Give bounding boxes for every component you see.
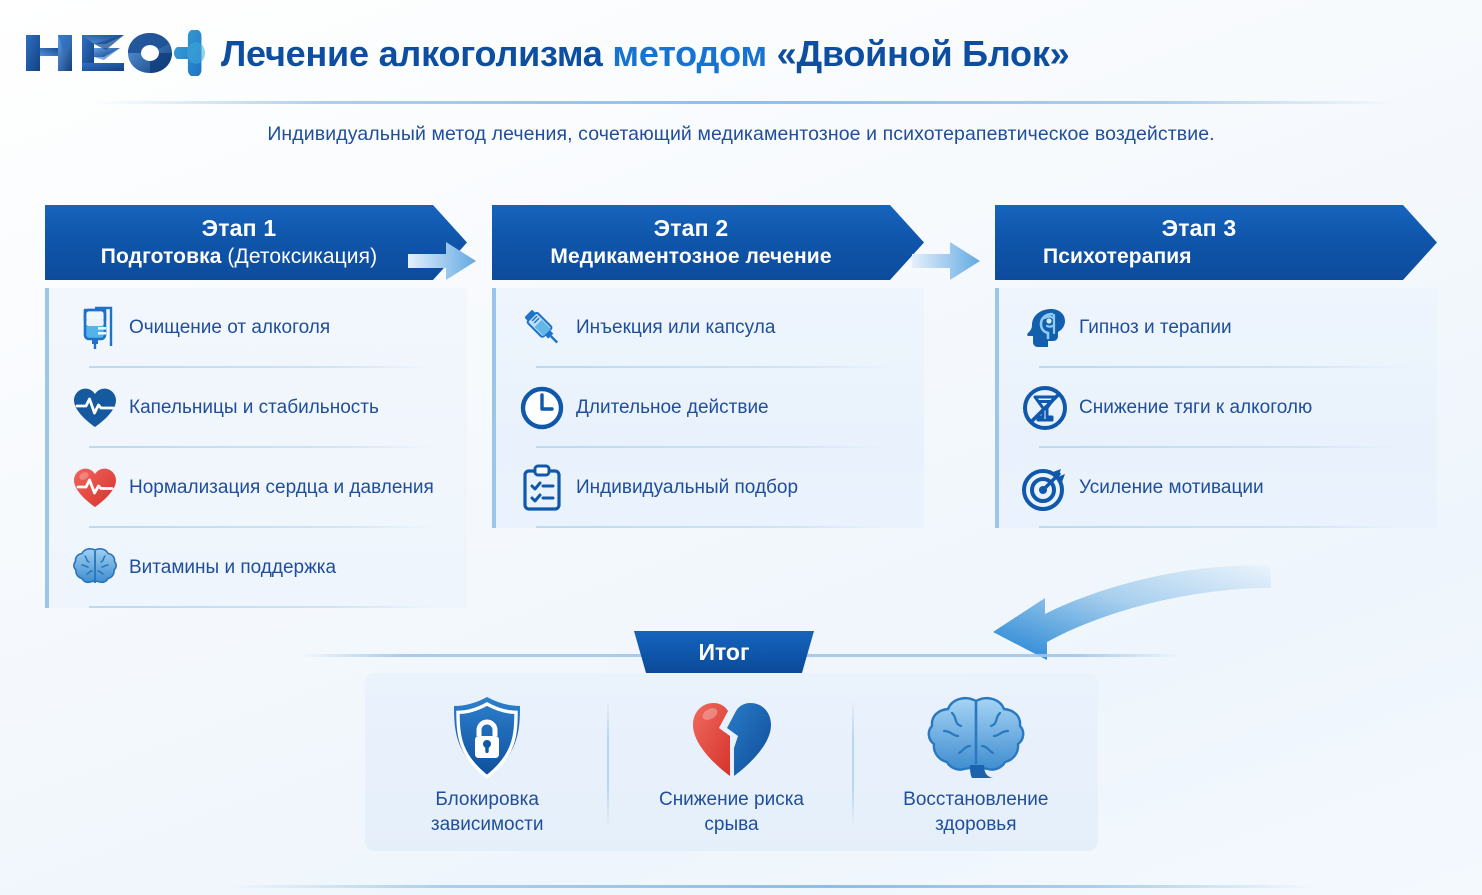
result-item-line1: Блокировка (435, 789, 539, 810)
row-divider (89, 606, 435, 608)
list-item[interactable]: Индивидуальный подбор (514, 448, 908, 528)
result-item-2[interactable]: Снижение риска срыва (609, 673, 853, 851)
right-arrow-icon (908, 236, 986, 286)
list-item[interactable]: Витамины и поддержка (67, 528, 451, 608)
result-panel: Блокировка зависимости (365, 673, 1098, 851)
head-brain-icon (1017, 300, 1073, 356)
result-item-1[interactable]: Блокировка зависимости (365, 673, 609, 851)
result-item-line1: Восстановление (903, 789, 1048, 810)
list-item[interactable]: Капельницы и стабильность (67, 368, 451, 448)
list-item-label: Гипноз и терапии (1073, 317, 1232, 339)
list-item[interactable]: Усиление мотивации (1017, 448, 1421, 528)
stage-2-header: Этап 2 Медикаментозное лечение (492, 205, 924, 280)
list-item[interactable]: Снижение тяги к алкоголю (1017, 368, 1421, 448)
list-item[interactable]: Нормализация сердца и давления (67, 448, 451, 528)
list-item[interactable]: Инъекция или капсула (514, 288, 908, 368)
stage-3-label: Этап 3 (995, 215, 1403, 242)
result-item-line2: зависимости (431, 814, 544, 835)
row-divider (536, 526, 892, 528)
infographic-root: Лечение алкоголизма методом «Двойной Бло… (0, 0, 1482, 895)
clock-icon (514, 380, 570, 436)
title-part-1: Лечение алкоголизма (221, 33, 612, 74)
syringe-icon (514, 300, 570, 356)
result-item-line2: срыва (704, 814, 758, 835)
stage-3-name-main: Психотерапия (1043, 245, 1192, 268)
stage-column-3: Этап 3 Психотерапия Гипноз и терапии (995, 205, 1437, 528)
list-item-label: Капельницы и стабильность (123, 397, 379, 419)
list-item[interactable]: Длительное действие (514, 368, 908, 448)
stage-1-name-extra: (Детоксикация) (221, 245, 377, 268)
right-arrow-icon (404, 236, 482, 286)
brain-icon (67, 540, 123, 596)
result-item-label: Блокировка зависимости (431, 787, 544, 837)
header-divider (95, 101, 1395, 104)
title-part-3: «Двойной Блок» (777, 33, 1070, 74)
stage-2-name-main: Медикаментозное лечение (550, 245, 831, 268)
curved-left-arrow-icon (985, 548, 1275, 670)
row-divider (1039, 526, 1405, 528)
list-item-label: Длительное действие (570, 397, 769, 419)
result-banner: Итог (634, 631, 814, 675)
result-item-line2: здоровья (935, 814, 1016, 835)
result-item-label: Восстановление здоровья (903, 787, 1048, 837)
footer-divider (230, 885, 1315, 888)
clipboard-checklist-icon (514, 460, 570, 516)
list-item-label: Усиление мотивации (1073, 477, 1264, 499)
header: Лечение алкоголизма методом «Двойной Бло… (0, 0, 1482, 100)
stage-2-body: Инъекция или капсула Длительное действие (492, 288, 924, 528)
stage-2-label: Этап 2 (492, 215, 890, 242)
list-item-label: Снижение тяги к алкоголю (1073, 397, 1312, 419)
heart-pulse-red-icon (67, 460, 123, 516)
result-item-3[interactable]: Восстановление здоровья (854, 673, 1098, 851)
result-item-line1: Снижение риска (659, 789, 804, 810)
stage-1-label: Этап 1 (45, 215, 433, 242)
list-item-label: Индивидуальный подбор (570, 477, 798, 499)
stage-3-header: Этап 3 Психотерапия (995, 205, 1437, 280)
list-item-label: Витамины и поддержка (123, 557, 336, 579)
brain-icon (926, 695, 1026, 781)
stage-1-name: Подготовка (Детоксикация) (45, 245, 433, 269)
list-item-label: Нормализация сердца и давления (123, 477, 434, 499)
target-arrow-icon (1017, 460, 1073, 516)
stage-3-name: Психотерапия (1043, 245, 1192, 269)
page-title: Лечение алкоголизма методом «Двойной Бло… (221, 33, 1069, 75)
subtitle: Индивидуальный метод лечения, сочетающий… (0, 123, 1482, 146)
shield-lock-icon (446, 695, 528, 781)
iv-drip-icon (67, 300, 123, 356)
result-item-label: Снижение риска срыва (659, 787, 804, 837)
stage-column-2: Этап 2 Медикаментозное лечение (492, 205, 924, 528)
heart-pulse-blue-icon (67, 380, 123, 436)
list-item-label: Инъекция или капсула (570, 317, 775, 339)
stage-2-name: Медикаментозное лечение (492, 245, 890, 269)
stage-3-body: Гипноз и терапии Снижение тяги к алкогол… (995, 288, 1437, 528)
neo-plus-logo (24, 30, 209, 76)
list-item[interactable]: Гипноз и терапии (1017, 288, 1421, 368)
list-item-label: Очищение от алкоголя (123, 317, 330, 339)
list-item[interactable]: Очищение от алкоголя (67, 288, 451, 368)
title-part-2: методом (612, 33, 776, 74)
broken-heart-icon (685, 695, 777, 781)
stage-1-name-main: Подготовка (101, 245, 222, 268)
no-alcohol-glass-icon (1017, 380, 1073, 436)
stage-1-body: Очищение от алкоголя Капельницы и стабил… (45, 288, 467, 608)
